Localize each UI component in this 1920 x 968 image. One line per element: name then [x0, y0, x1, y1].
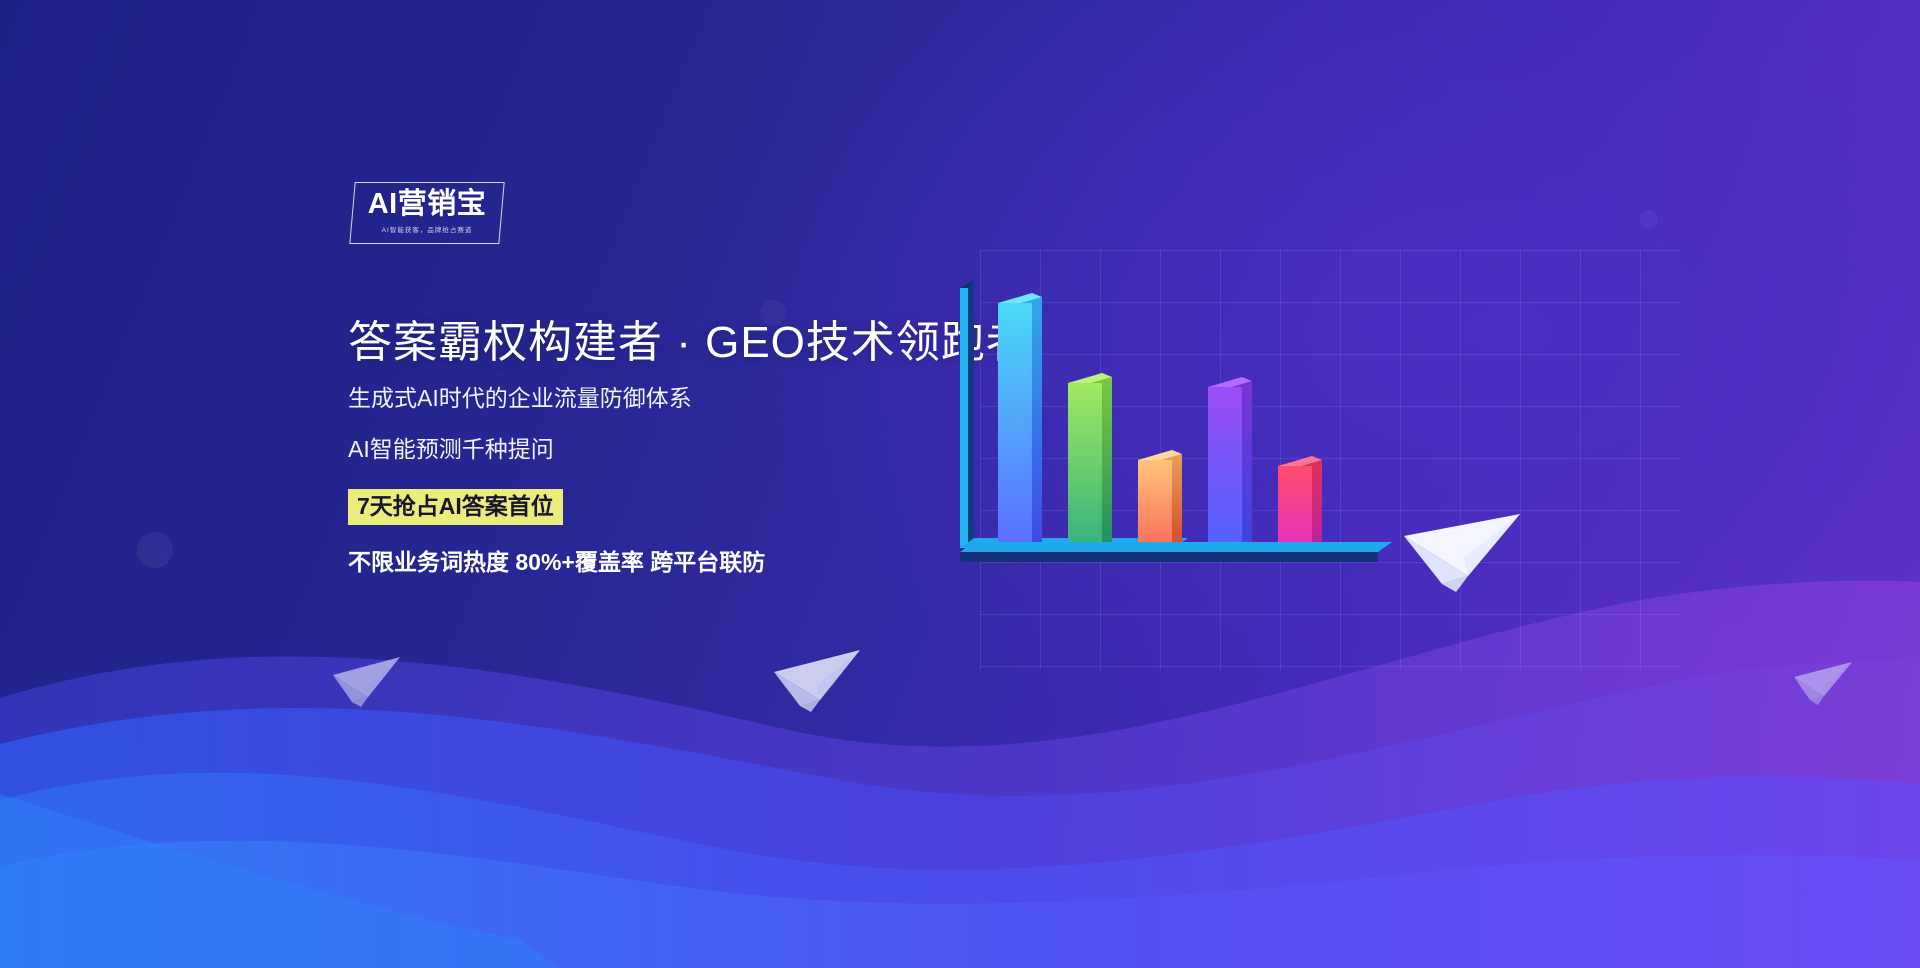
highlight-badge: 7天抢占AI答案首位: [348, 489, 563, 525]
brand-logo[interactable]: AI营销宝 AI智能获客，品牌抢占赛道: [352, 182, 502, 244]
logo-tagline: AI智能获客，品牌抢占赛道: [352, 224, 502, 234]
logo-text: AI营销宝: [352, 190, 502, 219]
paper-plane-icon: [330, 655, 402, 709]
chart-bar: [1068, 373, 1112, 552]
paper-plane-icon: [1792, 660, 1854, 706]
circle-decoration: [1640, 210, 1658, 228]
paper-plane-icon: [770, 648, 862, 714]
chart-bar: [1208, 377, 1252, 552]
bar-chart-illustration: [960, 280, 1480, 680]
chart-base-front: [960, 532, 1392, 562]
banner-stage: AI营销宝 AI智能获客，品牌抢占赛道 答案霸权构建者 · GEO技术领跑者 生…: [0, 0, 1920, 968]
circle-decoration: [137, 532, 173, 568]
paper-plane-icon: [1398, 506, 1523, 596]
chart-bar: [998, 293, 1042, 552]
chart-y-axis: [960, 280, 974, 548]
